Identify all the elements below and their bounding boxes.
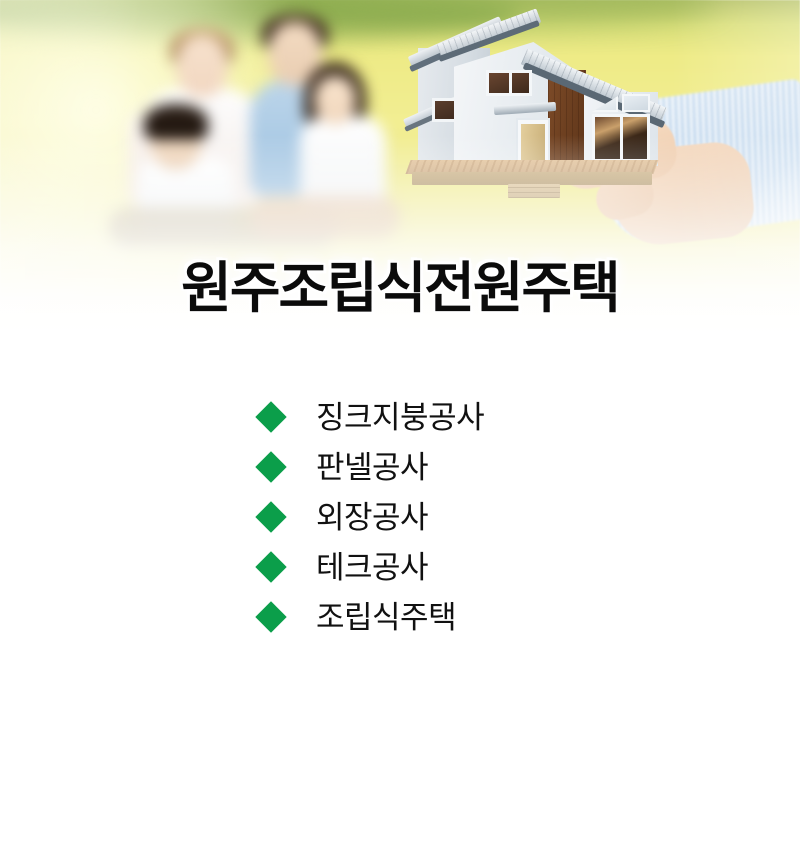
diamond-bullet-icon — [255, 551, 286, 582]
promo-page: 원주조립식전원주택 징크지붕공사 판넬공사 외장공사 테크공사 조립식주택 — [0, 0, 800, 850]
feature-label: 테크공사 — [316, 552, 428, 583]
list-item[interactable]: 조립식주택 — [0, 592, 800, 642]
feature-label: 징크지붕공사 — [316, 402, 484, 433]
feature-list: 징크지붕공사 판넬공사 외장공사 테크공사 조립식주택 — [0, 392, 800, 642]
list-item[interactable]: 테크공사 — [0, 542, 800, 592]
diamond-bullet-icon — [255, 501, 286, 532]
diamond-bullet-icon — [255, 401, 286, 432]
list-item[interactable]: 판넬공사 — [0, 442, 800, 492]
diamond-bullet-icon — [255, 601, 286, 632]
feature-label: 조립식주택 — [316, 602, 456, 633]
list-item[interactable]: 징크지붕공사 — [0, 392, 800, 442]
diamond-bullet-icon — [255, 451, 286, 482]
page-title: 원주조립식전원주택 — [0, 243, 800, 323]
feature-label: 판넬공사 — [316, 452, 428, 483]
feature-label: 외장공사 — [316, 502, 428, 533]
list-item[interactable]: 외장공사 — [0, 492, 800, 542]
